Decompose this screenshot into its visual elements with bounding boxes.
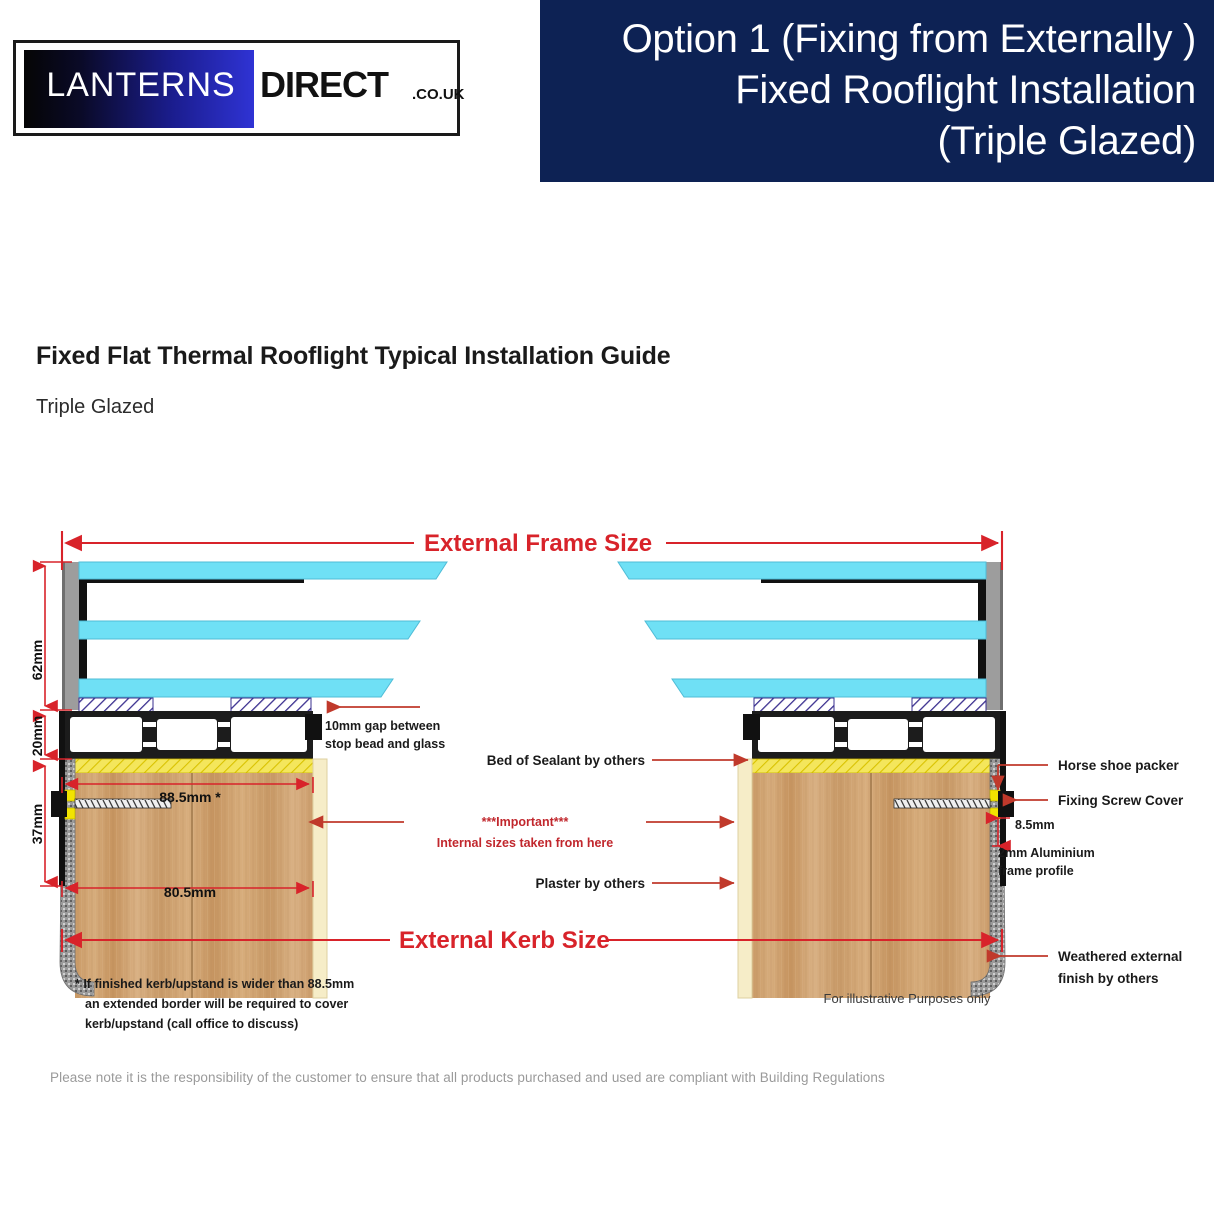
callout-plaster-label: Plaster by others [535, 876, 645, 891]
plaster-board-right [738, 759, 752, 998]
dimension-20mm: 20mm [29, 716, 45, 756]
fixing-screw-left [75, 799, 171, 808]
dimension-62mm: 62mm [29, 640, 45, 680]
gasket-hatch-inner-right [754, 698, 834, 713]
callout-8-5mm-label: 8.5mm [1015, 818, 1055, 832]
glass-pane-1-right [618, 562, 986, 579]
frame-upright-edge-left [62, 562, 65, 710]
fixing-screw-cover-right [998, 791, 1014, 817]
glass-pane-3-left [79, 679, 393, 697]
callout-bed-of-sealant-label: Bed of Sealant by others [487, 753, 645, 768]
kerb-footnote-line-1: * If finished kerb/upstand is wider than… [75, 977, 354, 991]
frame-upright-right [986, 562, 1001, 710]
stop-bead-left [305, 714, 322, 740]
glass-pane-2-right [645, 621, 986, 639]
dimension-88-5mm: 88.5mm * [159, 789, 221, 805]
frame-upright-edge-right [1000, 562, 1003, 710]
callout-fixing-screw-cover: Fixing Screw Cover [1016, 793, 1184, 808]
gasket-hatch-outer-right [912, 698, 986, 713]
bed-of-sealant-right [752, 759, 996, 773]
callout-weathered-finish-line1: Weathered external [1058, 949, 1182, 964]
callout-frame-profile-line1: 2mm Aluminium [998, 846, 1095, 860]
installation-diagram: External Frame Size 62mm 20mm 37mm 88.5m… [0, 0, 1214, 1214]
callout-important-internal-sizes: ***Important*** Internal sizes taken fro… [310, 815, 734, 850]
aluminium-frame-profile-right [752, 711, 1002, 759]
kerb-footnote-line-2: an extended border will be required to c… [85, 997, 348, 1011]
gasket-hatch-inner-left [231, 698, 311, 713]
fixing-screw-right [894, 799, 990, 808]
callout-plaster-by-others: Plaster by others [535, 876, 734, 891]
right-section-assembly [618, 562, 1014, 998]
frame-upright-left [64, 562, 79, 710]
kerb-footnote: * If finished kerb/upstand is wider than… [75, 977, 354, 1031]
dimension-37mm: 37mm [29, 804, 45, 844]
callout-horse-shoe-packer-label: Horse shoe packer [1058, 758, 1180, 773]
stop-bead-right [743, 714, 760, 740]
glass-pane-3-right [672, 679, 986, 697]
dimension-80-5mm: 80.5mm [164, 884, 216, 900]
callout-important-line2: Internal sizes taken from here [437, 836, 614, 850]
callout-important-line1: ***Important*** [482, 815, 569, 829]
callout-weathered-finish: Weathered external finish by others [1000, 949, 1182, 986]
bed-of-sealant-left [69, 759, 313, 773]
aluminium-frame-profile-left [63, 711, 313, 759]
left-section-assembly [51, 562, 447, 998]
gasket-hatch-outer-left [79, 698, 153, 713]
illustrative-purposes-note: For illustrative Purposes only [824, 991, 991, 1006]
callout-horse-shoe-packer: Horse shoe packer [998, 758, 1180, 790]
glass-pane-2-left [79, 621, 420, 639]
callout-weathered-finish-line2: finish by others [1058, 971, 1159, 986]
callout-bed-of-sealant: Bed of Sealant by others [487, 753, 748, 768]
kerb-footnote-line-3: kerb/upstand (call office to discuss) [85, 1017, 298, 1031]
label-external-kerb-size: External Kerb Size [399, 927, 610, 954]
glass-pane-1-left [79, 562, 447, 579]
callout-stop-bead-gap-line2: stop bead and glass [325, 737, 445, 751]
callout-frame-profile-line2: frame profile [998, 864, 1074, 878]
building-regulations-note: Please note it is the responsibility of … [50, 1070, 885, 1085]
label-external-frame-size: External Frame Size [424, 530, 652, 557]
callout-fixing-screw-cover-label: Fixing Screw Cover [1058, 793, 1184, 808]
callout-stop-bead-gap-line1: 10mm gap between [325, 719, 440, 733]
fixing-screw-cover-left [51, 791, 67, 817]
callout-stop-bead-gap: 10mm gap between stop bead and glass [325, 707, 445, 751]
plaster-board-left [313, 759, 327, 998]
